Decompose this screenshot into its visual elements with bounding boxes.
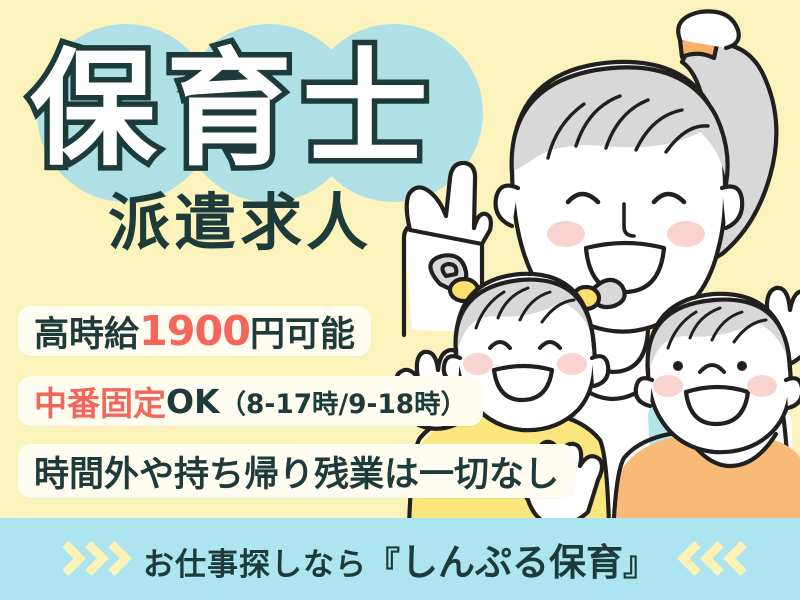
feature-lead-text-accent: 中番固定	[34, 377, 166, 425]
feature-shift-detail: （8-17時/9-18時）	[220, 382, 467, 421]
chevron-left-icon	[683, 542, 700, 576]
chevron-right-icon	[77, 542, 94, 576]
banner-tagline: お仕事探しなら『しんぷる保育』	[143, 532, 657, 586]
feature-tail-ok: OK	[166, 382, 220, 421]
feature-pill-hourly-wage: 高時給1900円可能	[18, 306, 371, 356]
chevron-left-icon	[729, 542, 746, 576]
poster-canvas: 保育士 派遣求人 高時給1900円可能 中番固定OK（8-17時/9-18時） …	[0, 0, 800, 600]
chevron-right-icon	[54, 542, 71, 576]
feature-lead-text: 時間外や持ち帰り残業は一切なし	[34, 446, 559, 497]
feature-pill-no-overtime: 時間外や持ち帰り残業は一切なし	[18, 444, 575, 498]
banner-open-bracket: 『	[367, 537, 401, 585]
feature-pill-shift: 中番固定OK（8-17時/9-18時）	[18, 376, 483, 426]
chevrons-right-group	[54, 542, 117, 576]
feature-tail-text: 円可能	[250, 306, 355, 357]
banner-close-bracket: 』	[623, 537, 657, 585]
banner-prefix: お仕事探しなら	[143, 539, 367, 584]
feature-number-1900: 1900	[139, 307, 250, 355]
chevron-right-icon	[100, 542, 117, 576]
feature-lead-text: 高時給	[34, 306, 139, 357]
poster-headline: 保育士	[30, 30, 490, 190]
chevrons-left-group	[683, 542, 746, 576]
chevron-left-icon	[706, 542, 723, 576]
poster-subheadline: 派遣求人	[108, 192, 372, 254]
bottom-banner: お仕事探しなら『しんぷる保育』	[0, 518, 800, 600]
banner-brand-name: しんぷる保育	[401, 532, 623, 586]
